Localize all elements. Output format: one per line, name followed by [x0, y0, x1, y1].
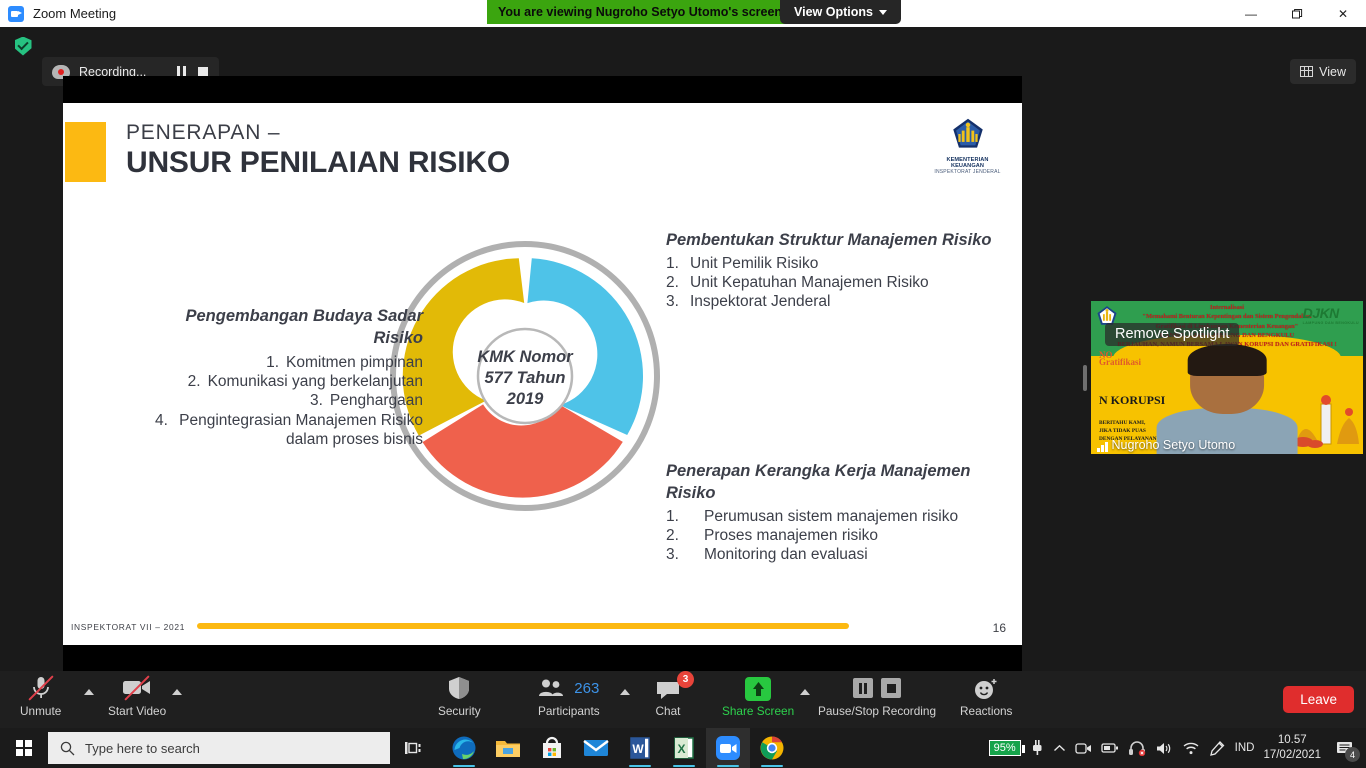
notification-count-badge: 4 — [1345, 747, 1360, 762]
clock-date: 17/02/2021 — [1263, 748, 1321, 763]
taskbar-clock[interactable]: 10.57 17/02/2021 — [1263, 733, 1321, 762]
security-button[interactable]: Security — [438, 675, 481, 718]
djkn-brand: DJKN LAMPUNG DAN BENGKULU — [1303, 305, 1359, 325]
zoom-icon — [715, 735, 741, 761]
volume-icon[interactable] — [1155, 741, 1173, 756]
donut-center-line1: KMK Nomor — [477, 348, 574, 366]
poster-no-sub: Gratifikasi — [1099, 357, 1141, 367]
slide-page-number: 16 — [993, 621, 1006, 635]
pen-touch-icon[interactable] — [1209, 740, 1226, 756]
donut-center-line3: 2019 — [506, 390, 545, 408]
task-view-icon — [404, 740, 422, 756]
share-screen-button[interactable]: Share Screen — [722, 675, 794, 718]
poster-no-gratifikasi: NO Gratifikasi — [1099, 353, 1141, 367]
taskbar-app-excel[interactable]: X — [662, 728, 706, 768]
system-tray: 95% IND 10.57 17/02/2021 4 — [989, 733, 1366, 763]
zoom-app-icon — [8, 6, 24, 22]
list-text: Pengintegrasian Manajemen Risiko dalam p… — [175, 411, 423, 449]
list-item: 4.Pengintegrasian Manajemen Risiko dalam… — [155, 411, 423, 449]
taskbar-running-underline — [673, 765, 695, 768]
list-text: Monitoring dan evaluasi — [704, 545, 868, 564]
list-number: 2. — [666, 273, 680, 292]
word-icon: W — [628, 736, 652, 760]
taskbar-app-edge[interactable] — [442, 728, 486, 768]
headset-muted-icon[interactable] — [1128, 741, 1146, 756]
kemenkeu-logo: KEMENTERIAN KEUANGAN INSPEKTORAT JENDERA… — [930, 117, 1005, 175]
unmute-button[interactable]: Unmute — [20, 675, 61, 718]
zoom-meeting-toolbar: Unmute Start Video Security 263 Particip… — [0, 671, 1366, 728]
block-penerapan-kerangka-kerja: Penerapan Kerangka Kerja Manajemen Risik… — [666, 461, 1006, 565]
slide-footer-text: INSPEKTORAT VII – 2021 — [71, 622, 185, 632]
share-screen-chevron-icon[interactable] — [800, 689, 810, 695]
show-hidden-icons-chevron-icon[interactable] — [1053, 744, 1066, 753]
pause-stop-recording-icon — [853, 675, 901, 701]
list-text: Komitmen pimpinan — [286, 353, 423, 372]
reactions-label: Reactions — [960, 704, 1012, 718]
view-options-label: View Options — [794, 5, 873, 19]
list-number: 3. — [666, 292, 680, 311]
reactions-icon — [973, 675, 999, 701]
pause-stop-recording-label: Pause/Stop Recording — [818, 704, 936, 718]
microphone-muted-icon — [30, 675, 52, 701]
chat-label: Chat — [656, 704, 681, 718]
chrome-icon — [759, 735, 785, 761]
chat-unread-badge: 3 — [677, 671, 694, 688]
svg-text:W: W — [632, 742, 644, 756]
risk-donut-chart: KMK Nomor 577 Tahun 2019 — [385, 236, 665, 516]
battery-percentage[interactable]: 95% — [989, 740, 1021, 756]
list-number: 1. — [666, 254, 680, 273]
list-number: 1. — [266, 353, 279, 372]
participants-label: Participants — [538, 704, 600, 718]
block-left-list: 1.Komitmen pimpinan 2.Komunikasi yang be… — [155, 353, 423, 449]
list-text: Penghargaan — [330, 391, 423, 410]
list-text: Unit Kepatuhan Manajemen Risiko — [690, 273, 929, 292]
taskbar-running-underline — [717, 765, 739, 768]
taskbar-app-microsoft-store[interactable] — [530, 728, 574, 768]
poster-no-korupsi: N KORUPSI — [1099, 393, 1165, 408]
edge-icon — [451, 735, 477, 761]
block-top-right-heading: Pembentukan Struktur Manajemen Risiko — [666, 230, 996, 252]
excel-icon: X — [672, 736, 696, 760]
list-item: 1.Komitmen pimpinan — [155, 353, 423, 372]
svg-text:X: X — [677, 742, 685, 756]
list-item: 2.Proses manajemen risiko — [666, 526, 1006, 545]
video-drag-handle[interactable] — [1083, 365, 1087, 391]
security-label: Security — [438, 704, 481, 718]
participants-button[interactable]: 263 Participants — [538, 675, 600, 718]
view-options-button[interactable]: View Options — [780, 0, 901, 24]
list-text: Proses manajemen risiko — [704, 526, 878, 545]
taskbar-search-placeholder: Type here to search — [85, 741, 200, 756]
participant-name-text: Nugroho Setyo Utomo — [1112, 438, 1236, 452]
chevron-down-icon — [879, 10, 887, 15]
taskbar-running-underline — [453, 765, 475, 768]
kemenkeu-logo-line2: INSPEKTORAT JENDERAL — [930, 169, 1005, 175]
camera-status-icon[interactable] — [1075, 741, 1092, 756]
djkn-brand-sub: LAMPUNG DAN BENGKULU — [1303, 321, 1359, 325]
taskbar-app-word[interactable]: W — [618, 728, 662, 768]
camera-off-icon — [120, 675, 154, 701]
share-screen-icon — [745, 675, 771, 701]
list-item: 3.Penghargaan — [155, 391, 423, 410]
list-text: Komunikasi yang berkelanjutan — [208, 372, 423, 391]
taskbar-app-zoom[interactable] — [706, 728, 750, 768]
kemenkeu-crest-icon — [951, 117, 985, 151]
audio-level-icon — [1097, 441, 1108, 452]
encryption-shield-button[interactable] — [8, 31, 38, 61]
search-icon — [60, 741, 75, 756]
pause-recording-icon[interactable] — [853, 678, 873, 698]
lampung-ornament-icon — [1287, 388, 1361, 450]
notification-center-button[interactable]: 4 — [1330, 733, 1360, 763]
view-layout-button[interactable]: View — [1290, 59, 1356, 84]
participant-hair — [1188, 344, 1267, 376]
participants-chevron-icon[interactable] — [620, 689, 630, 695]
block-pengembangan-budaya: Pengembangan Budaya Sadar Risiko 1.Komit… — [155, 306, 423, 449]
block-left-heading: Pengembangan Budaya Sadar Risiko — [155, 306, 423, 350]
block-pembentukan-struktur: Pembentukan Struktur Manajemen Risiko 1.… — [666, 230, 996, 312]
shield-icon — [447, 675, 471, 701]
windows-logo-icon — [16, 740, 32, 756]
participants-icon: 263 — [538, 675, 599, 701]
taskbar-running-underline — [629, 765, 651, 768]
taskbar-app-icons: W X — [442, 728, 794, 768]
window-title: Zoom Meeting — [33, 6, 116, 21]
participant-name-label: Nugroho Setyo Utomo — [1093, 437, 1239, 453]
chat-icon: 3 — [655, 675, 681, 701]
unmute-label: Unmute — [20, 704, 61, 718]
list-number: 4. — [155, 411, 168, 449]
participant-video-thumbnail[interactable]: Internalisasi "Memahami Benturan Kepenti… — [1091, 301, 1363, 454]
slide-kicker: PENERAPAN – — [126, 121, 280, 145]
poster-small-line-2: JIKA TIDAK PUAS — [1099, 427, 1157, 435]
task-view-button[interactable] — [390, 728, 436, 768]
donut-chart-svg: KMK Nomor 577 Tahun 2019 — [385, 236, 665, 516]
kemenkeu-logo-line1: KEMENTERIAN KEUANGAN — [930, 157, 1005, 169]
reactions-button[interactable]: Reactions — [960, 675, 1012, 718]
list-item: 1.Perumusan sistem manajemen risiko — [666, 507, 1006, 526]
zoom-top-strip: Recording... View — [0, 27, 1366, 66]
grid-view-icon — [1300, 66, 1313, 77]
power-plug-icon[interactable] — [1030, 739, 1044, 757]
taskbar-app-file-explorer[interactable] — [486, 728, 530, 768]
sharing-banner: You are viewing Nugroho Setyo Utomo's sc… — [487, 0, 793, 24]
start-video-label: Start Video — [108, 704, 166, 718]
share-screen-label: Share Screen — [722, 704, 794, 718]
list-text: Perumusan sistem manajemen risiko — [704, 507, 958, 526]
list-number: 2. — [188, 372, 201, 391]
start-button[interactable] — [0, 728, 48, 768]
window-controls: — ✕ — [1228, 0, 1366, 27]
block-top-right-list: 1.Unit Pemilik Risiko 2.Unit Kepatuhan M… — [666, 254, 996, 312]
pause-stop-recording-button[interactable]: Pause/Stop Recording — [818, 675, 936, 718]
title-accent-block — [65, 122, 106, 182]
shield-check-icon — [15, 37, 32, 56]
minimize-button[interactable]: — — [1228, 0, 1274, 27]
list-item: 3.Monitoring dan evaluasi — [666, 545, 1006, 564]
leave-meeting-button[interactable]: Leave — [1283, 686, 1354, 713]
video-options-chevron-icon[interactable] — [172, 689, 182, 695]
remove-spotlight-button[interactable]: Remove Spotlight — [1105, 323, 1239, 346]
microsoft-store-icon — [540, 736, 564, 760]
djkn-brand-text: DJKN — [1303, 305, 1339, 321]
taskbar-app-mail[interactable] — [574, 728, 618, 768]
block-bottom-right-heading: Penerapan Kerangka Kerja Manajemen Risik… — [666, 461, 1006, 505]
chat-button[interactable]: 3 Chat — [655, 675, 681, 718]
taskbar-running-underline — [761, 765, 783, 768]
participants-count: 263 — [574, 680, 599, 697]
file-explorer-icon — [495, 736, 521, 760]
wifi-icon[interactable] — [1182, 741, 1200, 755]
close-button[interactable]: ✕ — [1320, 0, 1366, 27]
donut-center-line2: 577 Tahun — [485, 369, 566, 387]
battery-saver-icon[interactable] — [1101, 741, 1119, 755]
view-label: View — [1319, 65, 1346, 79]
block-bottom-right-list: 1.Perumusan sistem manajemen risiko 2.Pr… — [666, 507, 1006, 565]
slide-footer-bar — [197, 623, 849, 629]
list-number: 3. — [310, 391, 323, 410]
windows-taskbar: Type here to search W X — [0, 728, 1366, 768]
list-number: 2. — [666, 526, 694, 545]
presentation-slide[interactable]: PENERAPAN – UNSUR PENILAIAN RISIKO KEMEN… — [63, 103, 1022, 645]
list-item: 3.Inspektorat Jenderal — [666, 292, 996, 311]
maximize-button[interactable] — [1274, 0, 1320, 27]
mail-icon — [583, 737, 609, 759]
input-language-indicator[interactable]: IND — [1235, 742, 1255, 754]
list-item: 2.Komunikasi yang berkelanjutan — [155, 372, 423, 391]
clock-time: 10.57 — [1263, 733, 1321, 748]
list-number: 3. — [666, 545, 694, 564]
start-video-button[interactable]: Start Video — [108, 675, 166, 718]
audio-options-chevron-icon[interactable] — [84, 689, 94, 695]
poster-small-line-1: BERITAHU KAMI, — [1099, 419, 1157, 427]
stop-recording-icon[interactable] — [881, 678, 901, 698]
list-item: 2.Unit Kepatuhan Manajemen Risiko — [666, 273, 996, 292]
slide-title: UNSUR PENILAIAN RISIKO — [126, 146, 510, 180]
list-item: 1.Unit Pemilik Risiko — [666, 254, 996, 273]
list-text: Unit Pemilik Risiko — [690, 254, 818, 273]
taskbar-app-chrome[interactable] — [750, 728, 794, 768]
taskbar-search-input[interactable]: Type here to search — [48, 732, 390, 764]
list-text: Inspektorat Jenderal — [690, 292, 830, 311]
list-number: 1. — [666, 507, 694, 526]
stop-recording-icon[interactable] — [198, 67, 208, 77]
